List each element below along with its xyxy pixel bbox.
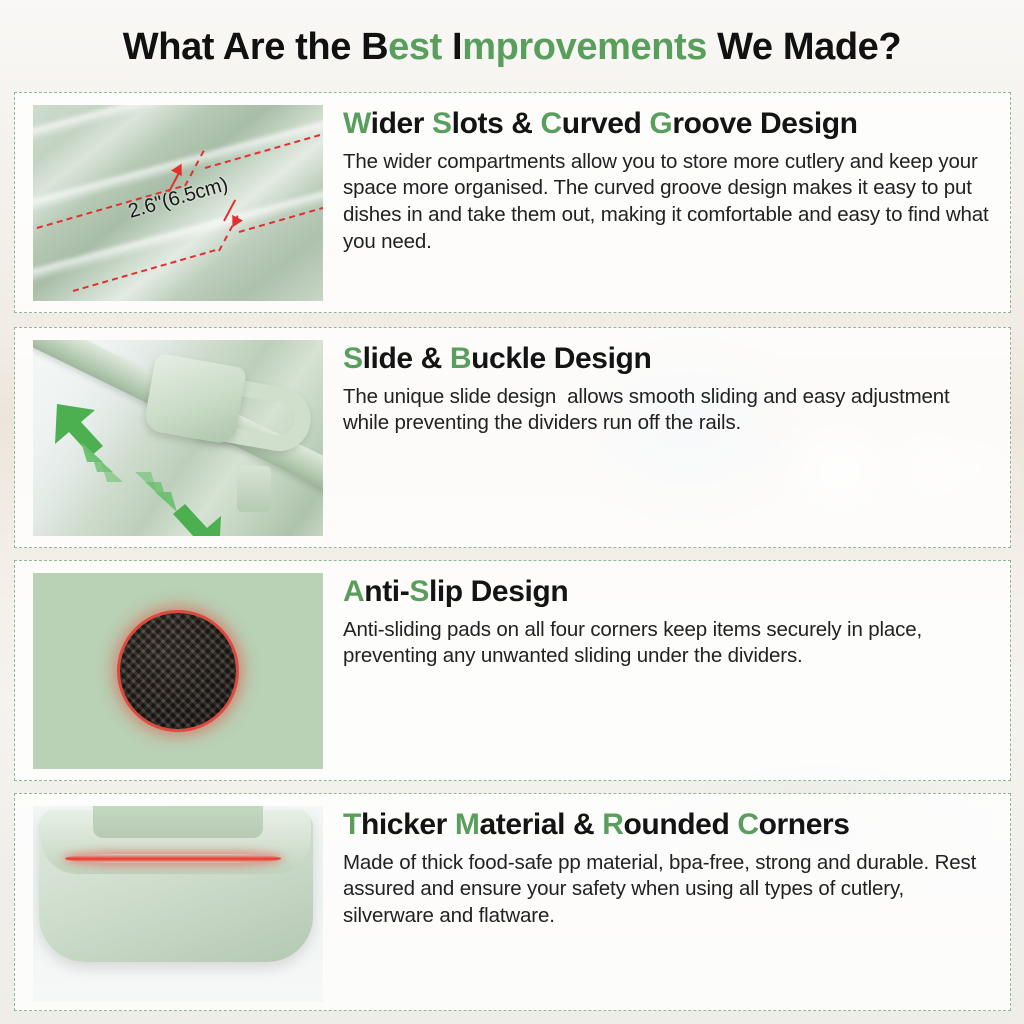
plain-text: hicker — [361, 808, 455, 841]
accent-text: A — [343, 575, 364, 608]
card-body: Wider Slots & Curved Groove Design The w… — [323, 93, 1010, 256]
slide-arrow-up-icon — [51, 398, 97, 444]
accent-text: M — [455, 808, 480, 841]
accent-text: S — [432, 107, 452, 140]
card-body: Slide & Buckle Design The unique slide d… — [323, 328, 1010, 437]
card-description: The unique slide design allows smooth sl… — [343, 384, 996, 438]
accent-text: W — [343, 107, 371, 140]
buckle-clip — [143, 352, 247, 445]
anti-slip-pad — [120, 613, 236, 729]
plain-text: What Are the B — [123, 26, 388, 68]
feature-card-anti-slip: Anti-Slip Design Anti-sliding pads on al… — [14, 560, 1011, 781]
plain-text: lip Design — [429, 575, 568, 608]
red-thickness-highlight — [65, 854, 281, 863]
card-body: Anti-Slip Design Anti-sliding pads on al… — [323, 561, 1010, 670]
plain-text: I — [452, 26, 462, 68]
card-description: Anti-sliding pads on all four corners ke… — [343, 617, 996, 671]
feature-card-thicker-material: Thicker Material & Rounded Corners Made … — [14, 793, 1011, 1011]
plain-text: ider — [371, 107, 432, 140]
tray-slot-width-photo: 2.6"(6.5cm) — [33, 105, 323, 301]
plain-text: We Made? — [707, 26, 901, 68]
accent-text: G — [649, 107, 672, 140]
card-heading-anti-slip: Anti-Slip Design — [343, 575, 996, 609]
slide-arrow-down-icon — [121, 458, 167, 504]
feature-card-slide-buckle: Slide & Buckle Design The unique slide d… — [14, 327, 1011, 548]
accent-text: est — [388, 26, 452, 68]
plain-text: ounded — [623, 808, 737, 841]
plain-text: orners — [759, 808, 850, 841]
feature-card-wider-slots: 2.6"(6.5cm) Wider Slots & Curved Groove … — [14, 92, 1011, 313]
plain-text: aterial & — [479, 808, 602, 841]
rounded-corner-photo — [33, 806, 323, 1002]
accent-text: S — [343, 342, 363, 375]
accent-text: S — [409, 575, 429, 608]
page-title: What Are the Best Improvements We Made? — [0, 26, 1024, 69]
accent-text: T — [343, 808, 361, 841]
accent-text: R — [602, 808, 623, 841]
accent-text: C — [541, 107, 562, 140]
plain-text: uckle Design — [471, 342, 651, 375]
accent-text: C — [737, 808, 758, 841]
plain-text: lide & — [363, 342, 450, 375]
accent-text: B — [450, 342, 471, 375]
plain-text: roove Design — [672, 107, 857, 140]
tray-corner-body — [39, 812, 313, 962]
tray-inner-wall — [93, 806, 263, 838]
rail-post — [237, 466, 271, 512]
anti-slip-pad-photo — [33, 573, 323, 769]
card-body: Thicker Material & Rounded Corners Made … — [323, 794, 1010, 930]
tray-corner-rim — [41, 810, 311, 874]
card-heading-slide-buckle: Slide & Buckle Design — [343, 342, 996, 376]
card-description: The wider compartments allow you to stor… — [343, 149, 996, 256]
plain-text: lots & — [452, 107, 541, 140]
accent-text: mprovements — [462, 26, 707, 68]
slide-buckle-photo — [33, 340, 323, 536]
card-description: Made of thick food-safe pp material, bpa… — [343, 850, 996, 931]
plain-text: urved — [562, 107, 650, 140]
card-heading-thicker-material: Thicker Material & Rounded Corners — [343, 808, 996, 842]
plain-text: nti- — [364, 575, 409, 608]
card-heading-wider-slots: Wider Slots & Curved Groove Design — [343, 107, 996, 141]
